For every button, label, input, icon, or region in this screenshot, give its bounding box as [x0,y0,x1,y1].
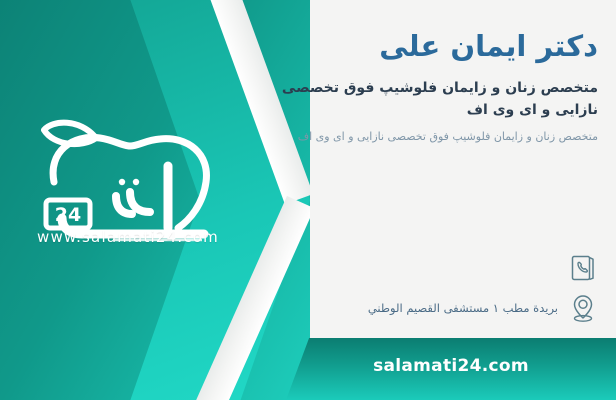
footer-website[interactable]: salamati24.com [286,338,616,400]
specialty-primary: متخصص زنان و زایمان فلوشیپ فوق تخصصی ناز… [246,78,598,121]
location-pin-icon [568,293,598,323]
apple-logo-icon: 24 [18,108,238,248]
footer-bar: salamati24.com [0,338,616,400]
contact-row-phone[interactable] [246,248,598,288]
brand-logo: 24 www.salamati24.com [18,108,238,278]
contact-list: بريدة مطب ١ مستشفى القصيم الوطني [246,248,598,328]
svg-text:24: 24 [55,204,81,226]
badge-24: 24 [46,200,90,228]
footer-bar-shape [286,338,616,400]
phonebook-icon [568,253,598,283]
contact-row-address[interactable]: بريدة مطب ١ مستشفى القصيم الوطني [246,288,598,328]
doctor-name: دکتر ایمان علی [246,28,598,64]
card-content: دکتر ایمان علی متخصص زنان و زایمان فلوشی… [246,28,598,146]
logo-url: www.salamati24.com [18,228,238,246]
business-card: 24 www.salamati24.com دکتر ایمان علی متخ… [0,0,616,400]
specialty-secondary: متخصص زنان و زایمان فلوشیپ فوق تخصصی ناز… [246,128,598,147]
contact-address-label: بريدة مطب ١ مستشفى القصيم الوطني [246,300,558,316]
